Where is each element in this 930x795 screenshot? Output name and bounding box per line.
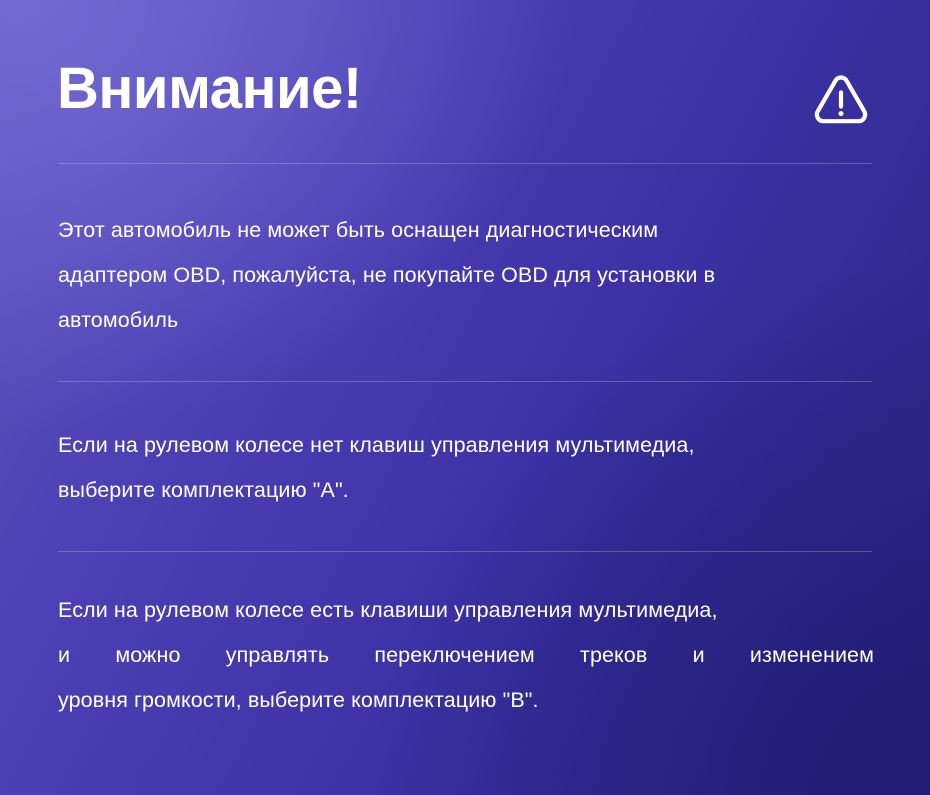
notice-section-trim-a: Если на рулевом колесе нет клавиш управл… [58, 423, 874, 513]
warning-triangle-icon [810, 68, 872, 130]
notice-section-trim-b: Если на рулевом колесе есть клавиши упра… [58, 588, 874, 723]
notice-line: выберите комплектацию "A". [58, 468, 874, 513]
notice-header: Внимание! [0, 0, 930, 163]
notice-line: Если на рулевом колесе нет клавиш управл… [58, 423, 874, 468]
notice-line: адаптером OBD, пожалуйста, не покупайте … [58, 253, 874, 298]
page-title: Внимание! [57, 57, 362, 121]
divider [58, 163, 872, 164]
notice-line: уровня громкости, выберите комплектацию … [58, 678, 874, 723]
notice-line: Если на рулевом колесе есть клавиши упра… [58, 588, 874, 633]
notice-line: Этот автомобиль не может быть оснащен ди… [58, 208, 874, 253]
divider [58, 551, 872, 552]
notice-line: автомобиль [58, 298, 874, 343]
divider [58, 381, 872, 382]
notice-card: Внимание! Этот автомобиль не может быть … [0, 0, 930, 795]
notice-section-obd-warning: Этот автомобиль не может быть оснащен ди… [58, 208, 874, 343]
notice-line: и можно управлять переключением треков и… [58, 633, 874, 678]
